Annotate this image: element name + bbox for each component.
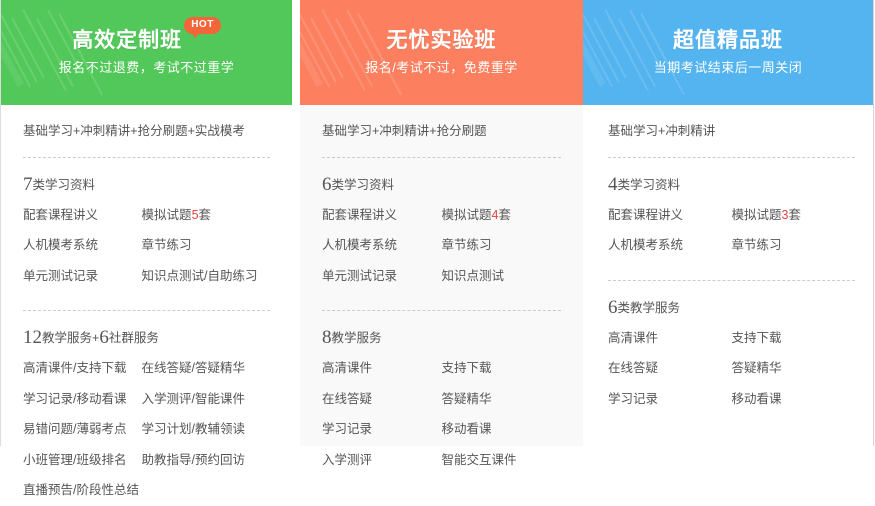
service-item: 高清课件 bbox=[322, 353, 442, 384]
plan-summary-2: 基础学习+冲刺精讲 bbox=[608, 105, 855, 138]
services-count-2: 6 bbox=[608, 297, 618, 318]
plan-body-0: 基础学习+冲刺精讲+抢分刷题+实战模考 7类学习资料 配套课程讲义模拟试题5套人… bbox=[1, 105, 292, 506]
service-item: 支持下载 bbox=[732, 323, 856, 354]
course-plan-comparison: 高效定制班 HOT 报名不过退费，考试不过重学 基础学习+冲刺精讲+抢分刷题+实… bbox=[0, 0, 875, 446]
materials-list-1: 配套课程讲义模拟试题4套人机模考系统章节练习单元测试记录知识点测试 bbox=[322, 200, 561, 292]
feature-unit: 套 bbox=[498, 208, 511, 222]
material-item: 人机模考系统 bbox=[23, 230, 142, 261]
services-label2-0: 社群服务 bbox=[109, 331, 159, 345]
service-item: 学习记录 bbox=[608, 384, 732, 415]
materials-list-0: 配套课程讲义模拟试题5套人机模考系统章节练习单元测试记录知识点测试/自助练习 bbox=[23, 200, 270, 292]
service-item: 高清课件 bbox=[608, 323, 732, 354]
services-heading-0: 12教学服务+6社群服务 bbox=[23, 328, 270, 347]
service-item: 学习记录/移动看课 bbox=[23, 384, 142, 415]
plan-title-0: 高效定制班 bbox=[72, 29, 182, 52]
material-item: 知识点测试 bbox=[442, 261, 562, 292]
material-item: 章节练习 bbox=[142, 230, 270, 261]
service-item: 入学测评/智能课件 bbox=[142, 384, 270, 415]
service-item: 在线答疑/答疑精华 bbox=[142, 353, 270, 384]
material-item: 配套课程讲义 bbox=[23, 200, 142, 231]
plan-title-2: 超值精品班 bbox=[673, 29, 783, 52]
feature-unit: 套 bbox=[788, 208, 801, 222]
services-label-1: 教学服务 bbox=[332, 331, 382, 345]
services-count-0: 12 bbox=[23, 327, 42, 348]
service-item: 学习计划/教辅领读 bbox=[142, 414, 270, 445]
divider bbox=[608, 280, 855, 281]
service-item: 助教指导/预约回访 bbox=[142, 445, 270, 476]
materials-heading-0: 7类学习资料 bbox=[23, 175, 270, 194]
plan-subtitle-0: 报名不过退费，考试不过重学 bbox=[59, 61, 235, 75]
feature-unit: 套 bbox=[199, 208, 212, 222]
material-item: 模拟试题4套 bbox=[442, 200, 562, 231]
plan-header-0: 高效定制班 HOT 报名不过退费，考试不过重学 bbox=[1, 0, 292, 105]
service-item: 支持下载 bbox=[442, 353, 562, 384]
feature-count: 5 bbox=[192, 208, 199, 222]
services-count2-0: 6 bbox=[99, 327, 109, 348]
plan-summary-1: 基础学习+冲刺精讲+抢分刷题 bbox=[322, 105, 561, 138]
feature-label: 模拟试题 bbox=[732, 208, 782, 222]
service-item: 移动看课 bbox=[732, 384, 856, 415]
material-item: 人机模考系统 bbox=[322, 230, 442, 261]
materials-count-1: 6 bbox=[322, 174, 332, 195]
divider bbox=[23, 310, 270, 311]
services-list-2: 高清课件支持下载在线答疑答疑精华学习记录移动看课 bbox=[608, 323, 855, 415]
material-item: 单元测试记录 bbox=[23, 261, 142, 292]
plan-card-2[interactable]: 超值精品班 当期考试结束后一周关闭 基础学习+冲刺精讲 4类学习资料 配套课程讲… bbox=[583, 0, 874, 446]
divider bbox=[23, 157, 270, 158]
service-item: 易错问题/薄弱考点 bbox=[23, 414, 142, 445]
materials-count-0: 7 bbox=[23, 174, 33, 195]
feature-label: 模拟试题 bbox=[142, 208, 192, 222]
services-list-1: 高清课件支持下载在线答疑答疑精华学习记录移动看课入学测评智能交互课件 bbox=[322, 353, 561, 475]
divider bbox=[322, 157, 561, 158]
plan-header-2: 超值精品班 当期考试结束后一周关闭 bbox=[583, 0, 873, 105]
plan-card-1[interactable]: 无忧实验班 报名/考试不过，免费重学 基础学习+冲刺精讲+抢分刷题 6类学习资料… bbox=[300, 0, 583, 446]
materials-label-0: 类学习资料 bbox=[33, 178, 96, 192]
material-item: 知识点测试/自助练习 bbox=[142, 261, 270, 292]
material-item: 章节练习 bbox=[732, 230, 856, 261]
materials-list-2: 配套课程讲义模拟试题3套人机模考系统章节练习 bbox=[608, 200, 855, 261]
material-item: 模拟试题3套 bbox=[732, 200, 856, 231]
plan-subtitle-2: 当期考试结束后一周关闭 bbox=[654, 61, 803, 75]
service-item: 答疑精华 bbox=[732, 353, 856, 384]
services-label-0: 教学服务 bbox=[42, 331, 92, 345]
services-label-2: 类教学服务 bbox=[618, 301, 681, 315]
material-item: 配套课程讲义 bbox=[608, 200, 732, 231]
material-item: 章节练习 bbox=[442, 230, 562, 261]
services-count-1: 8 bbox=[322, 327, 332, 348]
service-item: 高清课件/支持下载 bbox=[23, 353, 142, 384]
service-item: 直播预告/阶段性总结 bbox=[23, 475, 142, 506]
material-item: 模拟试题5套 bbox=[142, 200, 270, 231]
plan-body-2: 基础学习+冲刺精讲 4类学习资料 配套课程讲义模拟试题3套人机模考系统章节练习 … bbox=[583, 105, 873, 414]
services-list-0: 高清课件/支持下载在线答疑/答疑精华学习记录/移动看课入学测评/智能课件易错问题… bbox=[23, 353, 270, 506]
services-heading-2: 6类教学服务 bbox=[608, 298, 855, 317]
plan-subtitle-1: 报名/考试不过，免费重学 bbox=[365, 61, 518, 75]
divider bbox=[322, 310, 561, 311]
service-item: 智能交互课件 bbox=[442, 445, 562, 476]
plan-summary-0: 基础学习+冲刺精讲+抢分刷题+实战模考 bbox=[23, 105, 270, 138]
service-item: 在线答疑 bbox=[608, 353, 732, 384]
hot-badge: HOT bbox=[184, 17, 221, 34]
divider bbox=[608, 157, 855, 158]
service-item: 入学测评 bbox=[322, 445, 442, 476]
material-item: 单元测试记录 bbox=[322, 261, 442, 292]
materials-label-2: 类学习资料 bbox=[618, 178, 681, 192]
plan-header-1: 无忧实验班 报名/考试不过，免费重学 bbox=[300, 0, 583, 105]
material-item: 人机模考系统 bbox=[608, 230, 732, 261]
plan-title-1: 无忧实验班 bbox=[387, 29, 497, 52]
column-gap bbox=[292, 0, 300, 446]
feature-label: 模拟试题 bbox=[442, 208, 492, 222]
service-item: 学习记录 bbox=[322, 414, 442, 445]
materials-heading-1: 6类学习资料 bbox=[322, 175, 561, 194]
service-item: 在线答疑 bbox=[322, 384, 442, 415]
materials-label-1: 类学习资料 bbox=[332, 178, 395, 192]
plan-card-0[interactable]: 高效定制班 HOT 报名不过退费，考试不过重学 基础学习+冲刺精讲+抢分刷题+实… bbox=[0, 0, 292, 446]
materials-count-2: 4 bbox=[608, 174, 618, 195]
services-heading-1: 8教学服务 bbox=[322, 328, 561, 347]
plan-body-1: 基础学习+冲刺精讲+抢分刷题 6类学习资料 配套课程讲义模拟试题4套人机模考系统… bbox=[300, 105, 583, 475]
service-item: 移动看课 bbox=[442, 414, 562, 445]
materials-heading-2: 4类学习资料 bbox=[608, 175, 855, 194]
service-item: 小班管理/班级排名 bbox=[23, 445, 142, 476]
material-item: 配套课程讲义 bbox=[322, 200, 442, 231]
service-item: 答疑精华 bbox=[442, 384, 562, 415]
